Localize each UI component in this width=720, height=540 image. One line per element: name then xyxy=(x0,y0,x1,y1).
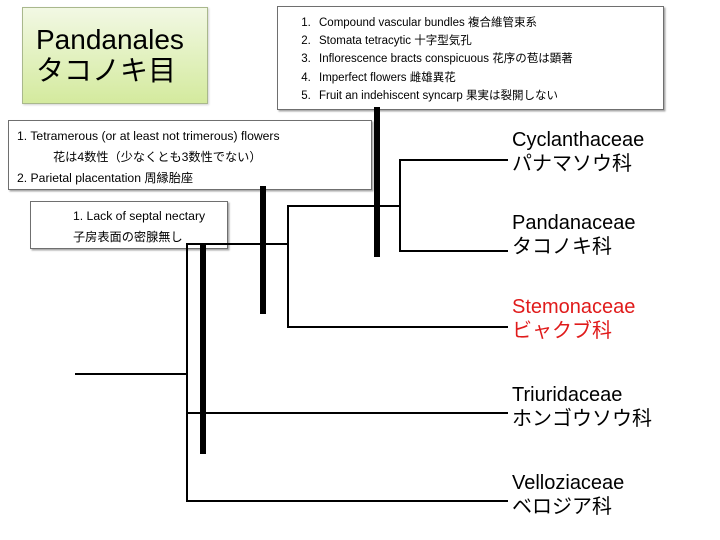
taxon-scientific-name: Cyclanthaceae xyxy=(512,128,644,152)
branch-connector-pandan-clade xyxy=(287,205,400,207)
taxon-stemonaceae: Stemonaceae ビャクブ科 xyxy=(512,295,635,344)
list-item: Stomata tetracytic 十字型気孔 xyxy=(314,32,655,50)
taxon-japanese-name: タコノキ科 xyxy=(512,235,635,260)
branch-tip-cyclanthaceae xyxy=(399,159,508,161)
taxon-cyclanthaceae: Cyclanthaceae パナマソウ科 xyxy=(512,128,644,177)
synapomorphy-bar-tetramerous xyxy=(260,186,266,314)
annotation-line: 1. Lack of septal nectary xyxy=(39,206,221,227)
taxon-scientific-name: Triuridaceae xyxy=(512,383,652,407)
slide-canvas: Pandanales タコノキ目 Compound vascular bundl… xyxy=(0,0,720,540)
branch-tip-velloziaceae xyxy=(186,500,508,502)
taxon-japanese-name: パナマソウ科 xyxy=(512,152,644,177)
synapomorphy-list: Compound vascular bundles 複合維管束系 Stomata… xyxy=(288,14,655,105)
branch-tip-stemonaceae xyxy=(287,326,508,328)
order-title-japanese: タコノキ目 xyxy=(36,55,176,86)
taxon-scientific-name: Pandanaceae xyxy=(512,211,635,235)
branch-node-cyclanth-pandan xyxy=(399,159,401,252)
branch-node-triuridaceae-split xyxy=(186,243,188,414)
list-item: Compound vascular bundles 複合維管束系 xyxy=(314,14,655,32)
annotation-line: 花は4数性（少なくとも3数性でない） xyxy=(17,147,365,168)
taxon-triuridaceae: Triuridaceae ホンゴウソウ科 xyxy=(512,383,652,432)
list-item: Imperfect flowers 雌雄異花 xyxy=(314,69,655,87)
list-item: Inflorescence bracts conspicuous 花序の苞は顕著 xyxy=(314,50,655,68)
taxon-pandanaceae: Pandanaceae タコノキ科 xyxy=(512,211,635,260)
taxon-scientific-name: Stemonaceae xyxy=(512,295,635,319)
branch-tip-pandanaceae xyxy=(399,250,508,252)
annotation-line: 1. Tetramerous (or at least not trimerou… xyxy=(17,126,365,147)
annotation-tetramerous-box: 1. Tetramerous (or at least not trimerou… xyxy=(8,120,372,190)
synapomorphy-bar-pandanales xyxy=(374,107,380,257)
synapomorphy-list-box: Compound vascular bundles 複合維管束系 Stomata… xyxy=(277,6,664,110)
synapomorphy-bar-nectary xyxy=(200,243,206,454)
branch-root-stem xyxy=(75,373,187,375)
order-title-latin: Pandanales xyxy=(36,25,184,55)
order-title-box: Pandanales タコノキ目 xyxy=(22,7,208,104)
taxon-scientific-name: Velloziaceae xyxy=(512,471,624,495)
taxon-velloziaceae: Velloziaceae ベロジア科 xyxy=(512,471,624,520)
taxon-japanese-name: ホンゴウソウ科 xyxy=(512,407,652,432)
annotation-nectary-box: 1. Lack of septal nectary 子房表面の密腺無し xyxy=(30,201,228,249)
taxon-japanese-name: ベロジア科 xyxy=(512,495,624,520)
annotation-line: 2. Parietal placentation 周縁胎座 xyxy=(17,168,365,189)
branch-tip-triuridaceae xyxy=(186,412,508,414)
branch-node-stemonaceae xyxy=(287,205,289,327)
taxon-japanese-name: ビャクブ科 xyxy=(512,319,635,344)
list-item: Fruit an indehiscent syncarp 果実は裂開しない xyxy=(314,87,655,105)
